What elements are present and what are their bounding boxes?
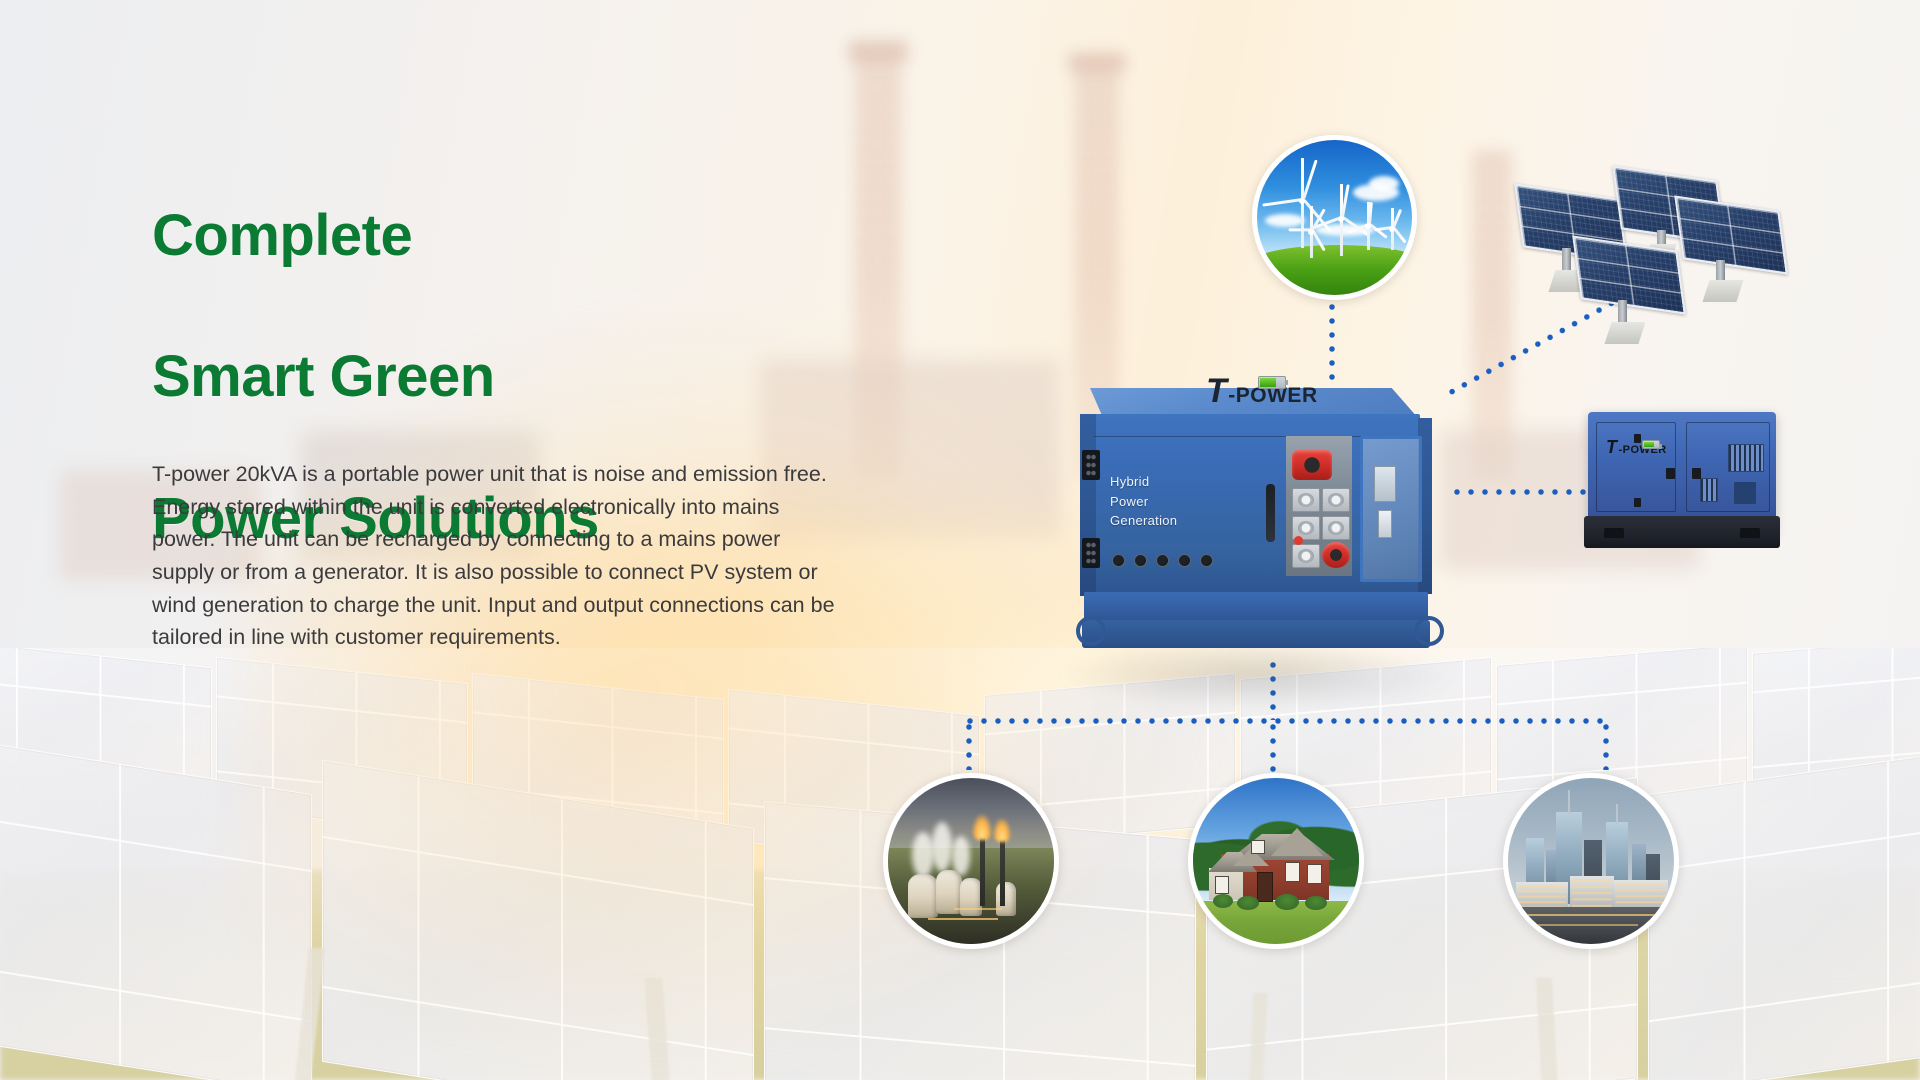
connector-bus-to-city	[1603, 720, 1609, 770]
generator-latch	[1634, 498, 1641, 507]
connector-load-bus	[963, 718, 1608, 724]
unit-brand-t: T	[1206, 372, 1226, 410]
product-hybrid-power-unit[interactable]: Hybrid Power Generation T-POWER	[1080, 388, 1448, 658]
city-skyline-scene	[1508, 778, 1674, 944]
house-gable	[1271, 828, 1323, 856]
connector-bus-to-powerplant	[966, 720, 972, 770]
house-shrub	[1305, 896, 1327, 910]
unit-knob[interactable]	[1134, 554, 1147, 567]
unit-hinge-lower	[1082, 538, 1100, 568]
generator-control-panel	[1734, 482, 1756, 504]
headline-line-1: Complete	[152, 201, 599, 272]
cooling-tower	[908, 874, 938, 918]
background-chimney-right-cap	[1068, 52, 1126, 72]
house-shrub	[1237, 896, 1259, 910]
load-residential-house-photo[interactable]	[1188, 773, 1364, 949]
unit-label-line-3: Generation	[1110, 511, 1177, 531]
plant-lights	[928, 918, 998, 920]
source-diesel-generator[interactable]: T-POWER	[1588, 412, 1776, 536]
cooling-tower	[996, 882, 1016, 916]
unit-control-knobs[interactable]	[1112, 554, 1213, 567]
unit-socket[interactable]	[1322, 488, 1350, 512]
flare-flame-icon	[993, 818, 1011, 842]
generator-vent-grille	[1728, 444, 1764, 472]
unit-indicator-light	[1294, 536, 1303, 545]
unit-socket-cabinet	[1286, 436, 1352, 576]
steam-plume	[932, 822, 952, 872]
house-door	[1257, 872, 1273, 902]
unit-skid-rail	[1082, 620, 1430, 648]
unit-knob[interactable]	[1112, 554, 1125, 567]
load-power-plant-photo[interactable]	[883, 773, 1059, 949]
generator-brand-t: T	[1606, 437, 1617, 457]
street-lights	[1538, 924, 1638, 926]
unit-window-meter	[1374, 466, 1396, 502]
unit-side-label: Hybrid Power Generation	[1110, 472, 1177, 531]
connector-generator-to-unit	[1450, 489, 1598, 495]
source-solar-array[interactable]	[1500, 160, 1800, 370]
background-chimney-left-cap	[848, 40, 908, 62]
house-lawn	[1188, 901, 1364, 944]
unit-label-line-1: Hybrid	[1110, 472, 1177, 492]
wind-turbine-icon	[1379, 208, 1405, 250]
unit-red-connector-large[interactable]	[1292, 450, 1332, 480]
unit-inspection-window	[1360, 436, 1422, 582]
plant-lights	[954, 908, 1002, 910]
house-shrub	[1213, 894, 1233, 908]
generator-foot	[1604, 528, 1624, 538]
unit-hinge-upper	[1082, 450, 1100, 480]
house-window	[1215, 876, 1229, 894]
unit-red-connector-small[interactable]	[1322, 542, 1350, 568]
unit-lift-eye-left	[1076, 616, 1106, 646]
wind-turbine-icon	[1293, 206, 1329, 258]
unit-knob[interactable]	[1156, 554, 1169, 567]
unit-left-side	[1080, 414, 1096, 596]
unit-socket[interactable]	[1292, 488, 1320, 512]
generator-latch	[1666, 468, 1675, 479]
headline-line-2: Smart Green	[152, 342, 599, 413]
unit-lift-eye-right	[1414, 616, 1444, 646]
load-city-skyline-photo[interactable]	[1503, 773, 1679, 949]
connector-bus-to-house	[1270, 720, 1276, 772]
cooling-tower	[960, 878, 982, 916]
power-plant-scene	[888, 778, 1054, 944]
unit-socket[interactable]	[1322, 516, 1350, 540]
generator-latch	[1692, 468, 1701, 479]
street-lights	[1522, 914, 1662, 916]
antenna-spire	[1616, 804, 1618, 824]
wind-farm-scene	[1257, 140, 1412, 295]
unit-door-handle[interactable]	[1266, 484, 1275, 542]
house-window	[1251, 840, 1265, 854]
generator-foot	[1740, 528, 1760, 538]
unit-knob[interactable]	[1178, 554, 1191, 567]
steam-plume	[912, 832, 934, 878]
unit-knob[interactable]	[1200, 554, 1213, 567]
cloud-icon	[1369, 176, 1399, 191]
exhaust-stack	[980, 834, 985, 906]
connector-wind-to-unit	[1329, 300, 1335, 396]
house-shrub	[1275, 894, 1299, 910]
unit-window-switch	[1378, 510, 1392, 538]
exhaust-stack	[1000, 836, 1005, 906]
flare-flame-icon	[972, 814, 992, 840]
source-wind-farm-photo[interactable]	[1252, 135, 1417, 300]
house-window	[1307, 864, 1322, 884]
generator-battery-icon	[1642, 440, 1660, 449]
product-description: T-power 20kVA is a portable power unit t…	[152, 458, 836, 654]
antenna-spire	[1568, 790, 1570, 814]
solar-panel-mount	[1706, 260, 1738, 304]
generator-vent-small	[1700, 478, 1718, 502]
unit-battery-indicator-icon	[1258, 376, 1286, 389]
unit-label-line-2: Power	[1110, 492, 1177, 512]
house-window	[1285, 862, 1300, 882]
poster-canvas: Complete Smart Green Power Solutions T-p…	[0, 0, 1920, 1080]
solar-panel-mount	[1608, 300, 1640, 346]
residential-house-scene	[1193, 778, 1359, 944]
unit-base-plinth	[1084, 592, 1428, 622]
unit-socket[interactable]	[1292, 544, 1320, 568]
